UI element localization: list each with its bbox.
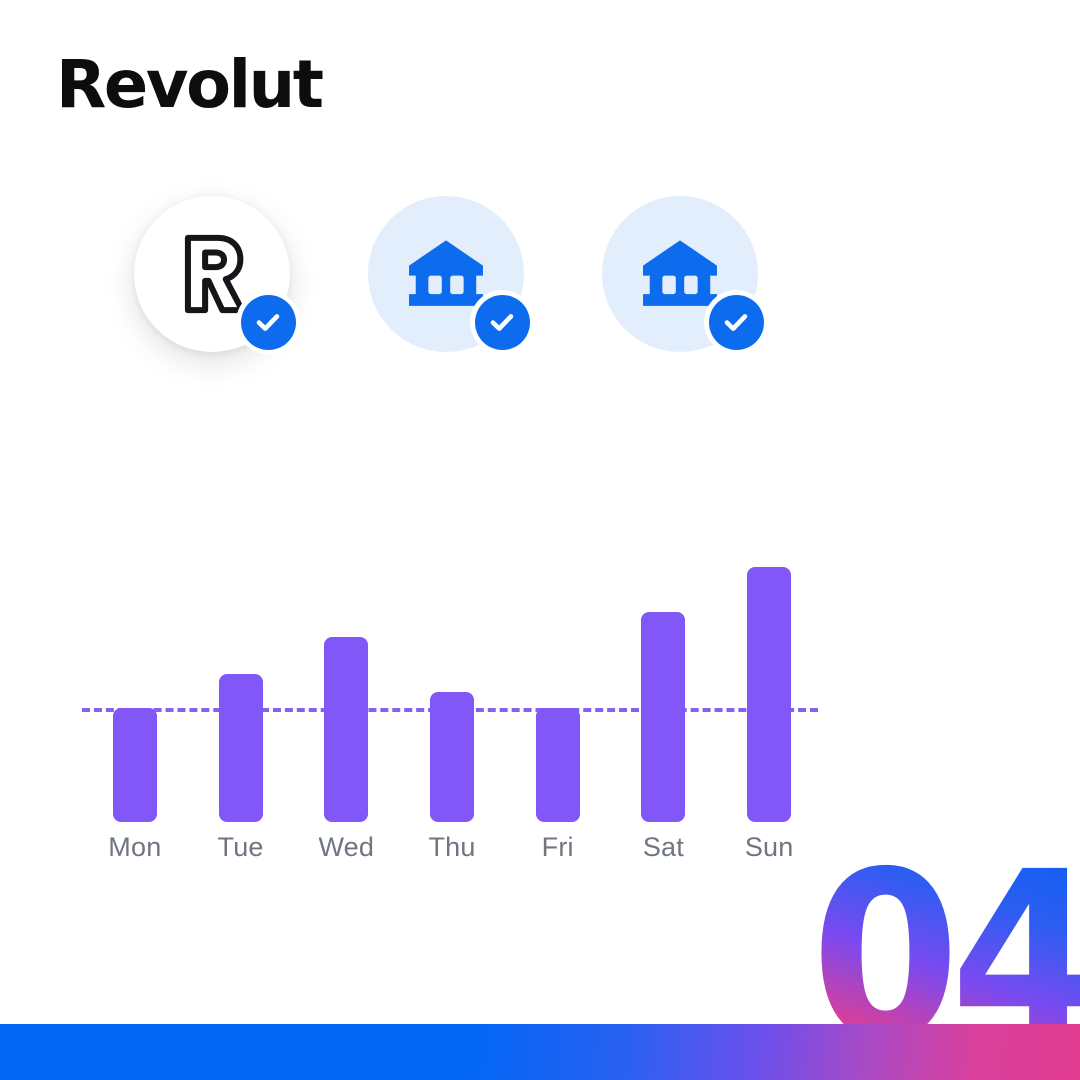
check-badge-icon <box>241 295 296 350</box>
chart-plot-area <box>82 552 822 822</box>
connected-accounts-row <box>0 196 1080 396</box>
verified-badge <box>236 290 300 354</box>
chart-bar[interactable] <box>747 567 791 822</box>
chart-x-label: Sun <box>714 830 824 864</box>
chart-bar[interactable] <box>324 637 368 822</box>
chart-x-label: Sat <box>608 830 718 864</box>
chart-bar[interactable] <box>536 708 580 822</box>
chart-x-label: Thu <box>397 830 507 864</box>
weekly-activity-chart: MonTueWedThuFriSatSun <box>82 552 822 882</box>
chart-x-axis: MonTueWedThuFriSatSun <box>82 830 822 874</box>
check-badge-icon <box>709 295 764 350</box>
verified-badge <box>470 290 534 354</box>
slide-canvas: Revolut <box>0 0 1080 1080</box>
check-badge-icon <box>475 295 530 350</box>
account-badge-revolut[interactable] <box>134 196 290 352</box>
chart-x-label: Fri <box>503 830 613 864</box>
chart-bar[interactable] <box>641 612 685 822</box>
verified-badge <box>704 290 768 354</box>
account-badge-bank-2[interactable] <box>602 196 758 352</box>
chart-x-label: Tue <box>186 830 296 864</box>
footer-gradient-bar <box>0 1024 1080 1080</box>
chart-x-label: Mon <box>80 830 190 864</box>
chart-bar[interactable] <box>219 674 263 822</box>
chart-bar[interactable] <box>430 692 474 822</box>
chart-bar[interactable] <box>113 708 157 822</box>
account-badge-bank-1[interactable] <box>368 196 524 352</box>
revolut-wordmark: Revolut <box>56 52 322 118</box>
chart-x-label: Wed <box>291 830 401 864</box>
